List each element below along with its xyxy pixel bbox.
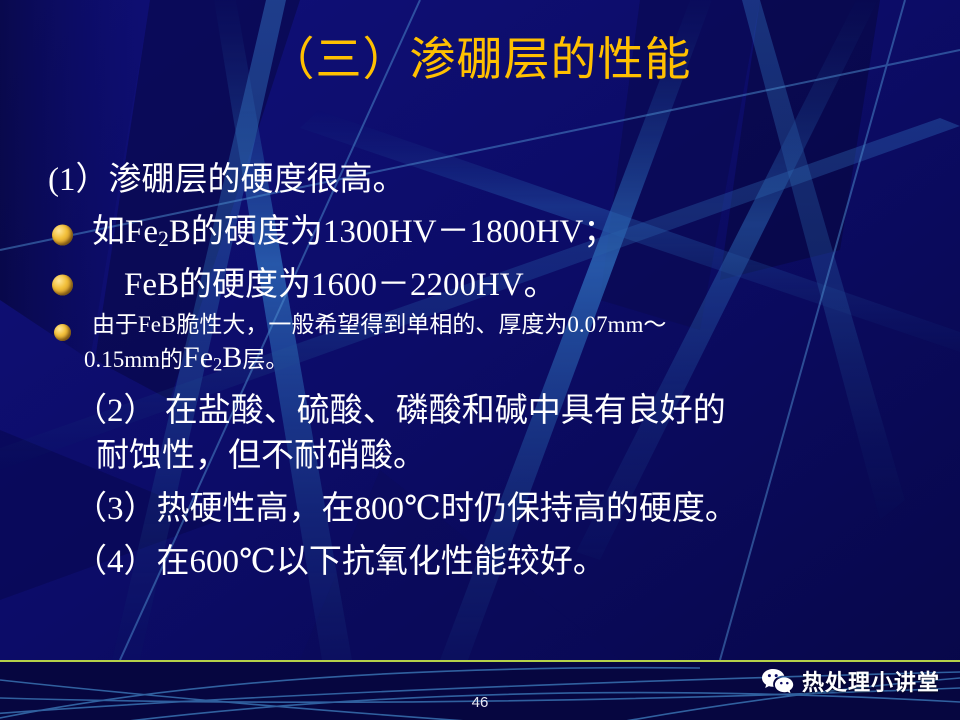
bullet-text-pre: 如Fe — [92, 214, 158, 250]
bullet-text-subscript: 2 — [158, 227, 169, 251]
slide-title: （三）渗硼层的性能 — [0, 34, 960, 86]
gold-bullet-icon — [52, 274, 73, 295]
spacer — [44, 479, 934, 487]
bullet-text: 由于FeB脆性大，一般希望得到单相的、厚度为0.07mm～ — [92, 312, 666, 337]
thickness-text-pre: 0.15mm的 — [84, 347, 183, 372]
formula-fe: Fe — [183, 341, 213, 374]
spacer — [44, 532, 934, 540]
body-item-2-line-2: 耐蚀性，但不耐硝酸。 — [44, 434, 934, 479]
bullet-item-feb-brittleness: 由于FeB脆性大，一般希望得到单相的、厚度为0.07mm～ — [44, 308, 934, 341]
slide-canvas: （三）渗硼层的性能 (1）渗硼层的硬度很高。 如Fe2B的硬度为1300HV－1… — [0, 0, 960, 720]
brand-name: 热处理小讲堂 — [802, 665, 940, 697]
body-item-1: (1）渗硼层的硬度很高。 — [44, 158, 934, 202]
bullet-text-post: B的硬度为1300HV－1800HV； — [169, 214, 616, 250]
bullet-item-feb-brittleness-cont: 0.15mm的Fe2B层。 — [44, 341, 934, 381]
formula-b: B — [222, 341, 242, 374]
formula-subscript: 2 — [213, 354, 222, 375]
wechat-icon — [761, 667, 795, 695]
body-item-2-line-1: （2） 在盐酸、硫酸、磷酸和碱中具有良好的 — [44, 389, 934, 434]
thickness-text-post: 层。 — [242, 347, 288, 372]
bullet-text: FeB的硬度为1600－2200HV。 — [124, 267, 557, 303]
gold-bullet-icon — [52, 225, 73, 246]
bullet-item-fe2b-hardness: 如Fe2B的硬度为1300HV－1800HV； — [44, 209, 934, 262]
body-item-4: （4）在600℃以下抗氧化性能较好。 — [44, 540, 934, 585]
gold-bullet-icon — [54, 324, 71, 341]
wechat-brand: 热处理小讲堂 — [761, 665, 940, 697]
slide-content: （三）渗硼层的性能 (1）渗硼层的硬度很高。 如Fe2B的硬度为1300HV－1… — [0, 0, 960, 720]
bullet-item-feb-hardness: FeB的硬度为1600－2200HV。 — [44, 262, 934, 308]
page-number: 46 — [0, 694, 960, 711]
body-item-3: （3）热硬性高，在800℃时仍保持高的硬度。 — [44, 487, 934, 532]
fe2b-formula: Fe2B — [183, 341, 242, 374]
spacer — [44, 381, 934, 389]
slide-body: (1）渗硼层的硬度很高。 如Fe2B的硬度为1300HV－1800HV； FeB… — [44, 158, 934, 585]
